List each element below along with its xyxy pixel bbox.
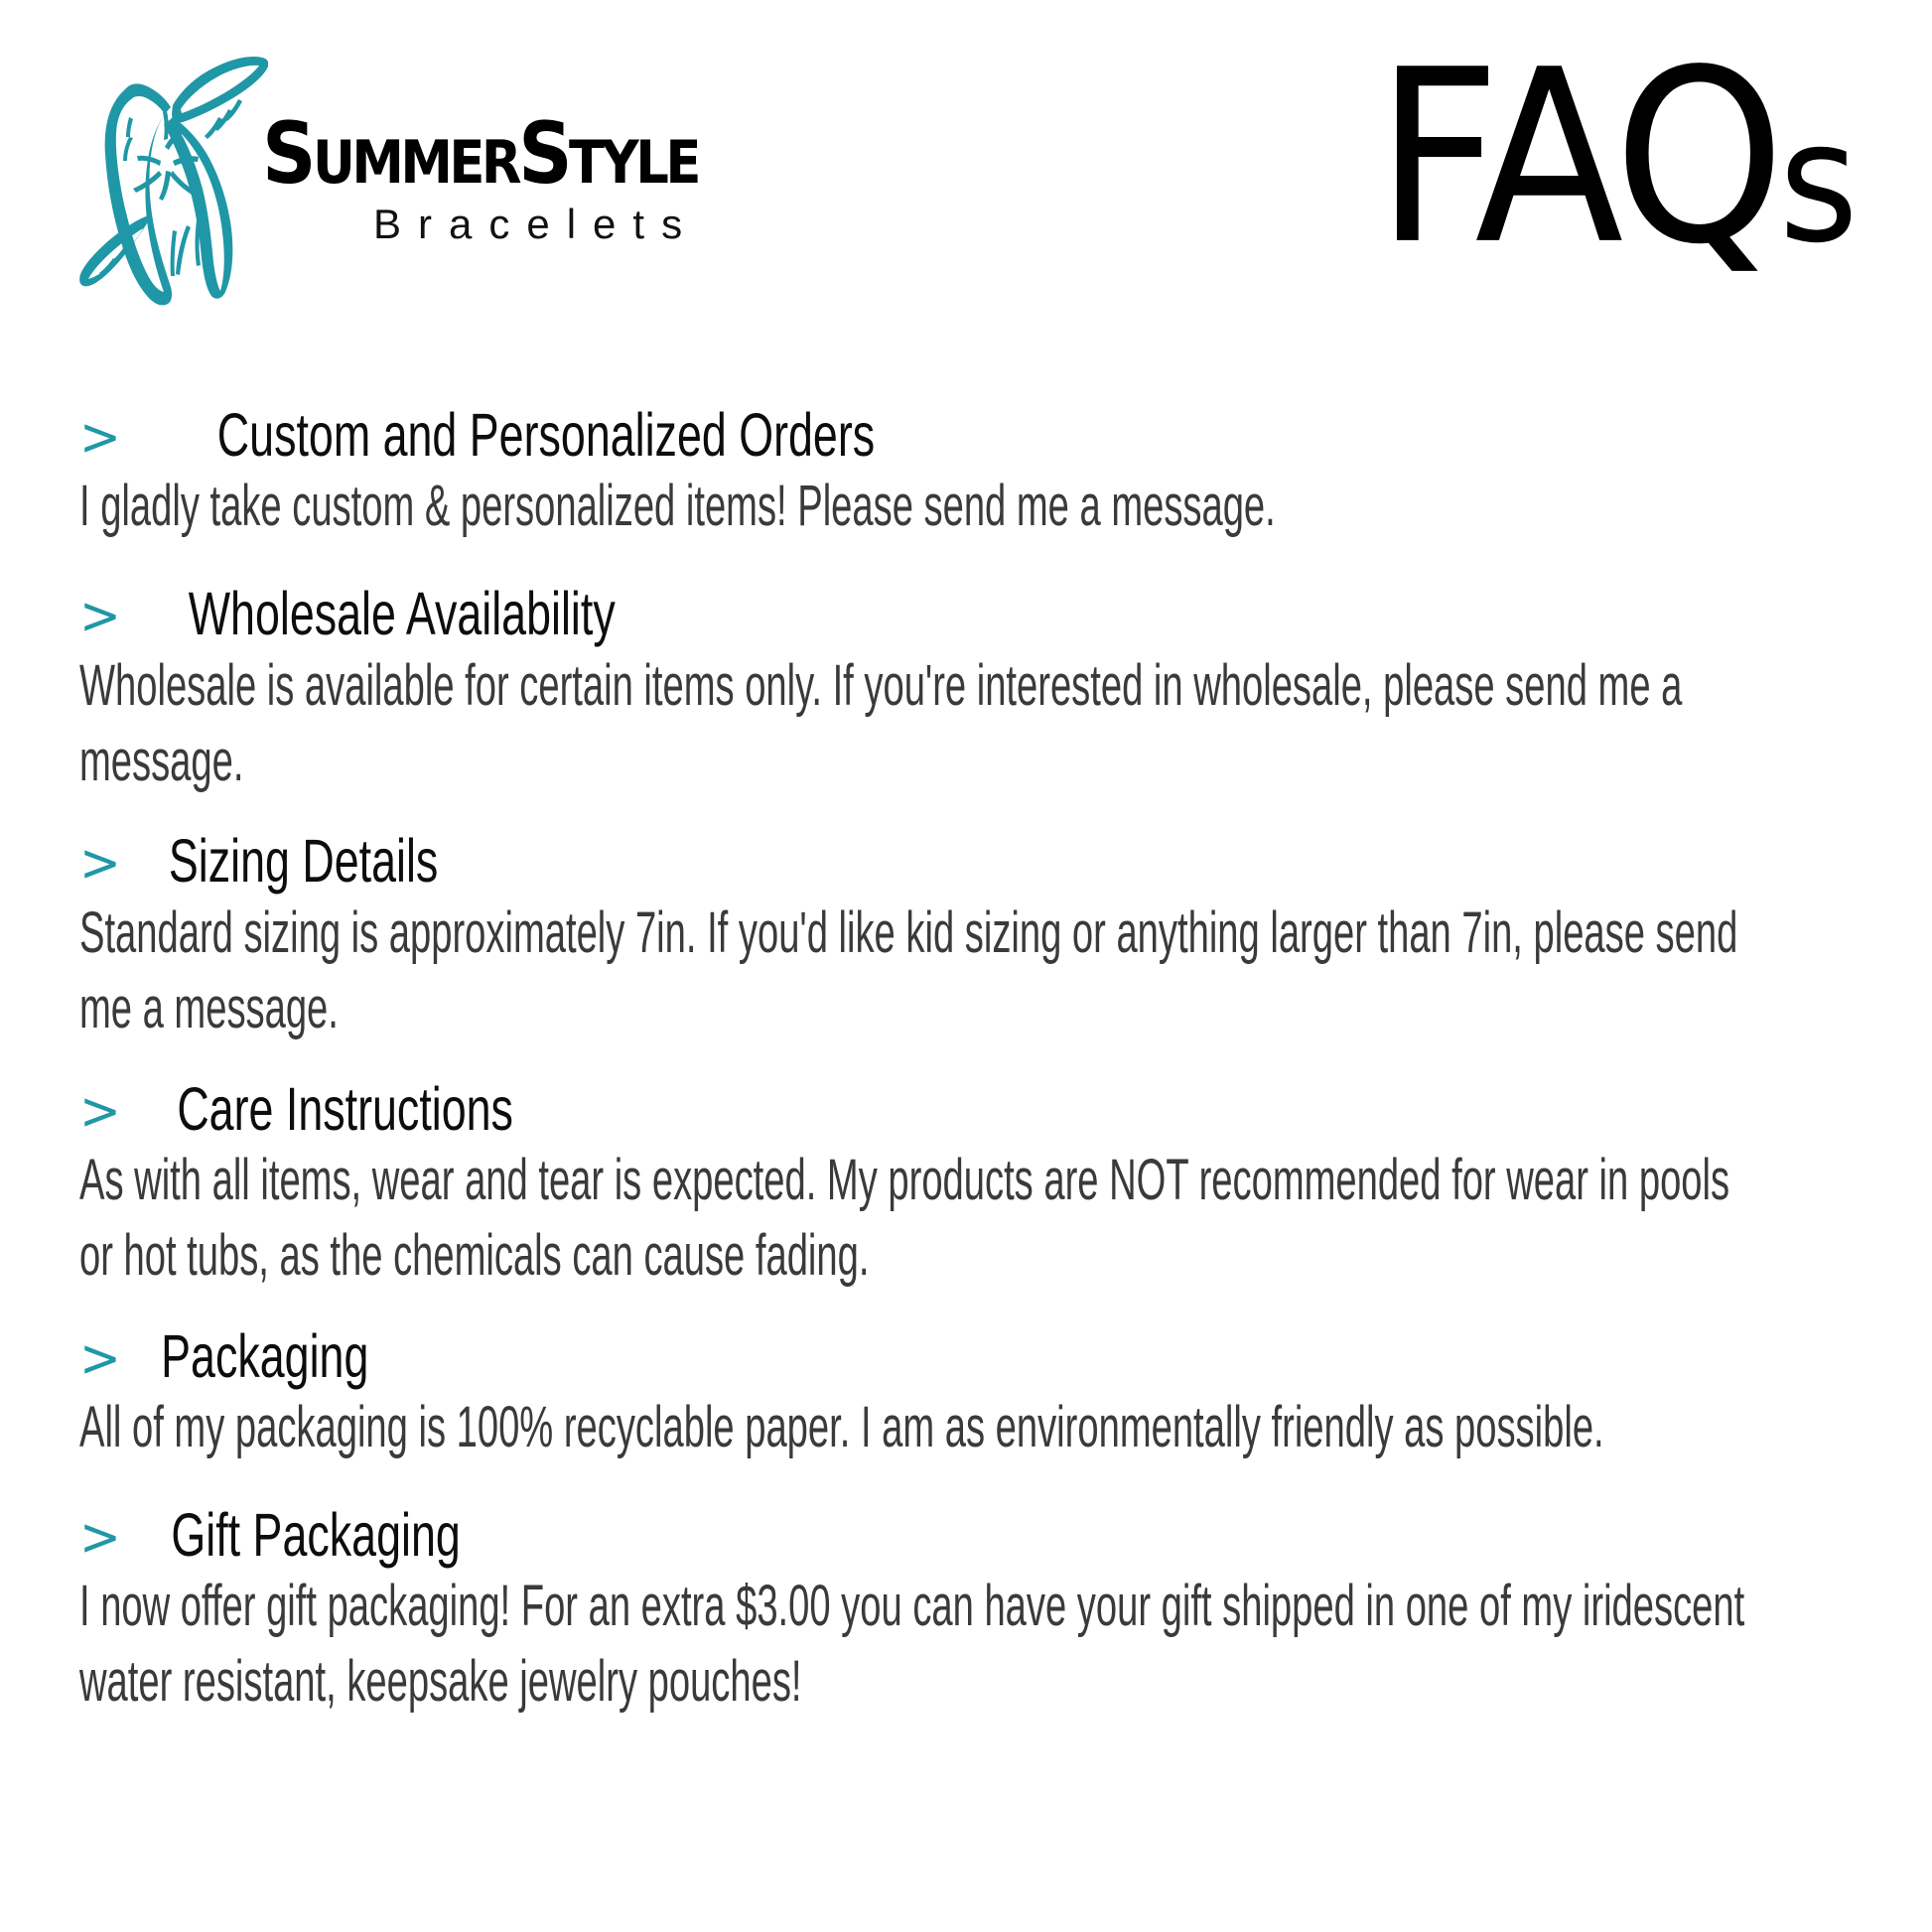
faq-item: > Custom and Personalized Orders I gladl… bbox=[79, 405, 1767, 538]
faq-body-text: Wholesale is available for certain items… bbox=[79, 649, 1745, 800]
faq-heading-label: Gift Packaging bbox=[171, 1502, 460, 1567]
page-header: SummerStyle Bracelets FAQs bbox=[0, 0, 1932, 328]
chevron-right-icon: > bbox=[79, 1084, 121, 1137]
faq-heading: > Gift Packaging bbox=[79, 1505, 1767, 1564]
chevron-right-icon: > bbox=[79, 1511, 121, 1564]
faq-heading-label: Sizing Details bbox=[169, 828, 438, 893]
chevron-right-icon: > bbox=[79, 411, 121, 464]
brand-tagline: Bracelets bbox=[373, 201, 758, 248]
faq-heading: > Sizing Details bbox=[79, 831, 1767, 890]
starfish-icon bbox=[69, 22, 268, 315]
brand-wordmark-group: SummerStyle Bracelets bbox=[262, 22, 758, 248]
faq-heading-label: Wholesale Availability bbox=[189, 581, 616, 645]
faq-item: > Care Instructions As with all items, w… bbox=[79, 1079, 1767, 1281]
chevron-right-icon: > bbox=[79, 590, 121, 642]
page-title-suffix: s bbox=[1779, 86, 1857, 280]
faq-heading: > Custom and Personalized Orders bbox=[79, 405, 1767, 464]
faq-item: > Wholesale Availability Wholesale is av… bbox=[79, 584, 1767, 785]
faq-body-text: I gladly take custom & personalized item… bbox=[79, 470, 1745, 545]
faq-body-text: As with all items, wear and tear is expe… bbox=[79, 1144, 1745, 1295]
faq-heading: > Care Instructions bbox=[79, 1079, 1767, 1138]
faq-body-text: Standard sizing is approximately 7in. If… bbox=[79, 897, 1745, 1047]
faq-item: > Gift Packaging I now offer gift packag… bbox=[79, 1505, 1767, 1707]
faq-body-text: I now offer gift packaging! For an extra… bbox=[79, 1570, 1745, 1721]
faq-item: > Sizing Details Standard sizing is appr… bbox=[79, 831, 1767, 1033]
brand-wordmark: SummerStyle bbox=[262, 117, 698, 193]
chevron-right-icon: > bbox=[79, 837, 121, 890]
faq-heading-label: Custom and Personalized Orders bbox=[217, 402, 875, 467]
faq-list: > Custom and Personalized Orders I gladl… bbox=[79, 405, 1767, 1707]
faq-heading-label: Packaging bbox=[161, 1323, 368, 1388]
faq-body-text: All of my packaging is 100% recyclable p… bbox=[79, 1391, 1745, 1466]
chevron-right-icon: > bbox=[79, 1331, 121, 1384]
faq-heading: > Wholesale Availability bbox=[79, 584, 1767, 642]
faq-heading-label: Care Instructions bbox=[177, 1076, 513, 1141]
faq-item: > Packaging All of my packaging is 100% … bbox=[79, 1326, 1767, 1459]
brand-logo: SummerStyle Bracelets bbox=[69, 22, 758, 315]
page-title-main: FAQ bbox=[1376, 18, 1779, 297]
page-title: FAQs bbox=[1376, 38, 1857, 277]
faq-heading: > Packaging bbox=[79, 1326, 1767, 1385]
